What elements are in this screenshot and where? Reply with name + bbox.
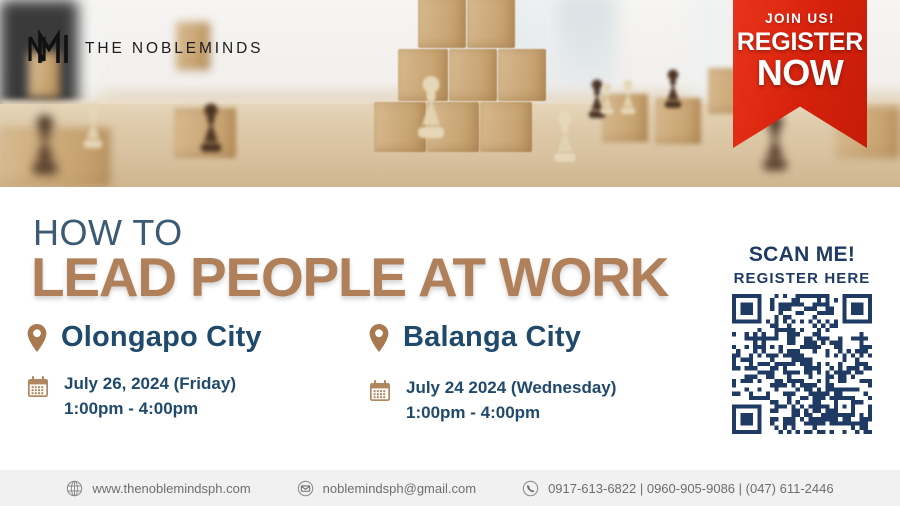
qr-scan-label: SCAN ME! <box>726 243 878 267</box>
footer-website-label: www.thenoblemindsph.com <box>92 481 250 496</box>
event-olongapo: Olongapo City <box>26 321 262 421</box>
event-city-label: Balanga City <box>403 321 581 354</box>
ribbon-now-label: NOW <box>733 56 867 90</box>
event-date-label: July 26, 2024 (Friday) <box>64 372 236 397</box>
chess-pawn-dark <box>201 104 221 152</box>
chess-pawn-light <box>84 103 103 148</box>
contact-footer: www.thenoblemindsph.com noblemindsph@gma… <box>0 470 900 506</box>
envelope-icon <box>297 480 314 497</box>
event-datetime: July 24 2024 (Wednesday) 1:00pm - 4:00pm <box>406 376 616 425</box>
footer-phone-label: 0917-613-6822 | 0960-905-9086 | (047) 61… <box>548 481 834 496</box>
calendar-icon <box>368 379 392 403</box>
chess-pawn-light <box>601 83 614 114</box>
brand-wordmark: THE NOBLEMINDS <box>85 40 263 58</box>
chess-pawn-light <box>554 111 575 162</box>
event-datetime: July 26, 2024 (Friday) 1:00pm - 4:00pm <box>64 372 236 421</box>
qr-register-label: REGISTER HERE <box>726 270 878 287</box>
nm-monogram-icon <box>26 29 72 69</box>
footer-phone[interactable]: 0917-613-6822 | 0960-905-9086 | (047) 61… <box>522 480 834 497</box>
chess-pawn-light <box>418 76 444 138</box>
ribbon-join-label: JOIN US! <box>733 11 867 26</box>
brand-logo: THE NOBLEMINDS <box>26 29 263 69</box>
headline-line2: LEAD PEOPLE AT WORK <box>31 245 668 309</box>
wood-block <box>449 49 497 101</box>
event-balanga: Balanga City <box>368 321 616 425</box>
wood-block <box>498 49 546 101</box>
wood-block <box>418 0 466 48</box>
wood-block <box>467 0 515 48</box>
event-city-label: Olongapo City <box>61 321 262 354</box>
qr-code-icon[interactable] <box>732 294 872 434</box>
event-date-row: July 26, 2024 (Friday) 1:00pm - 4:00pm <box>26 372 262 421</box>
chess-pawn-dark <box>33 115 58 174</box>
event-time-label: 1:00pm - 4:00pm <box>406 401 616 426</box>
event-date-row: July 24 2024 (Wednesday) 1:00pm - 4:00pm <box>368 376 616 425</box>
event-city-row: Balanga City <box>368 321 616 354</box>
chess-pawn-dark <box>665 70 681 108</box>
phone-icon <box>522 480 539 497</box>
wood-block <box>480 102 532 152</box>
background-window-secondary <box>556 0 616 90</box>
chess-pawn-light <box>621 80 635 114</box>
footer-email-label: noblemindsph@gmail.com <box>323 481 476 496</box>
location-pin-icon <box>26 323 48 353</box>
calendar-icon <box>26 375 50 399</box>
qr-registration-panel: SCAN ME! REGISTER HERE <box>726 243 878 434</box>
event-city-row: Olongapo City <box>26 321 262 354</box>
event-date-label: July 24 2024 (Wednesday) <box>406 376 616 401</box>
event-time-label: 1:00pm - 4:00pm <box>64 397 236 422</box>
promotional-poster: THE NOBLEMINDS JOIN US! REGISTER NOW HOW… <box>0 0 900 506</box>
globe-icon <box>66 480 83 497</box>
footer-email[interactable]: noblemindsph@gmail.com <box>297 480 476 497</box>
location-pin-icon <box>368 323 390 353</box>
footer-website[interactable]: www.thenoblemindsph.com <box>66 480 250 497</box>
